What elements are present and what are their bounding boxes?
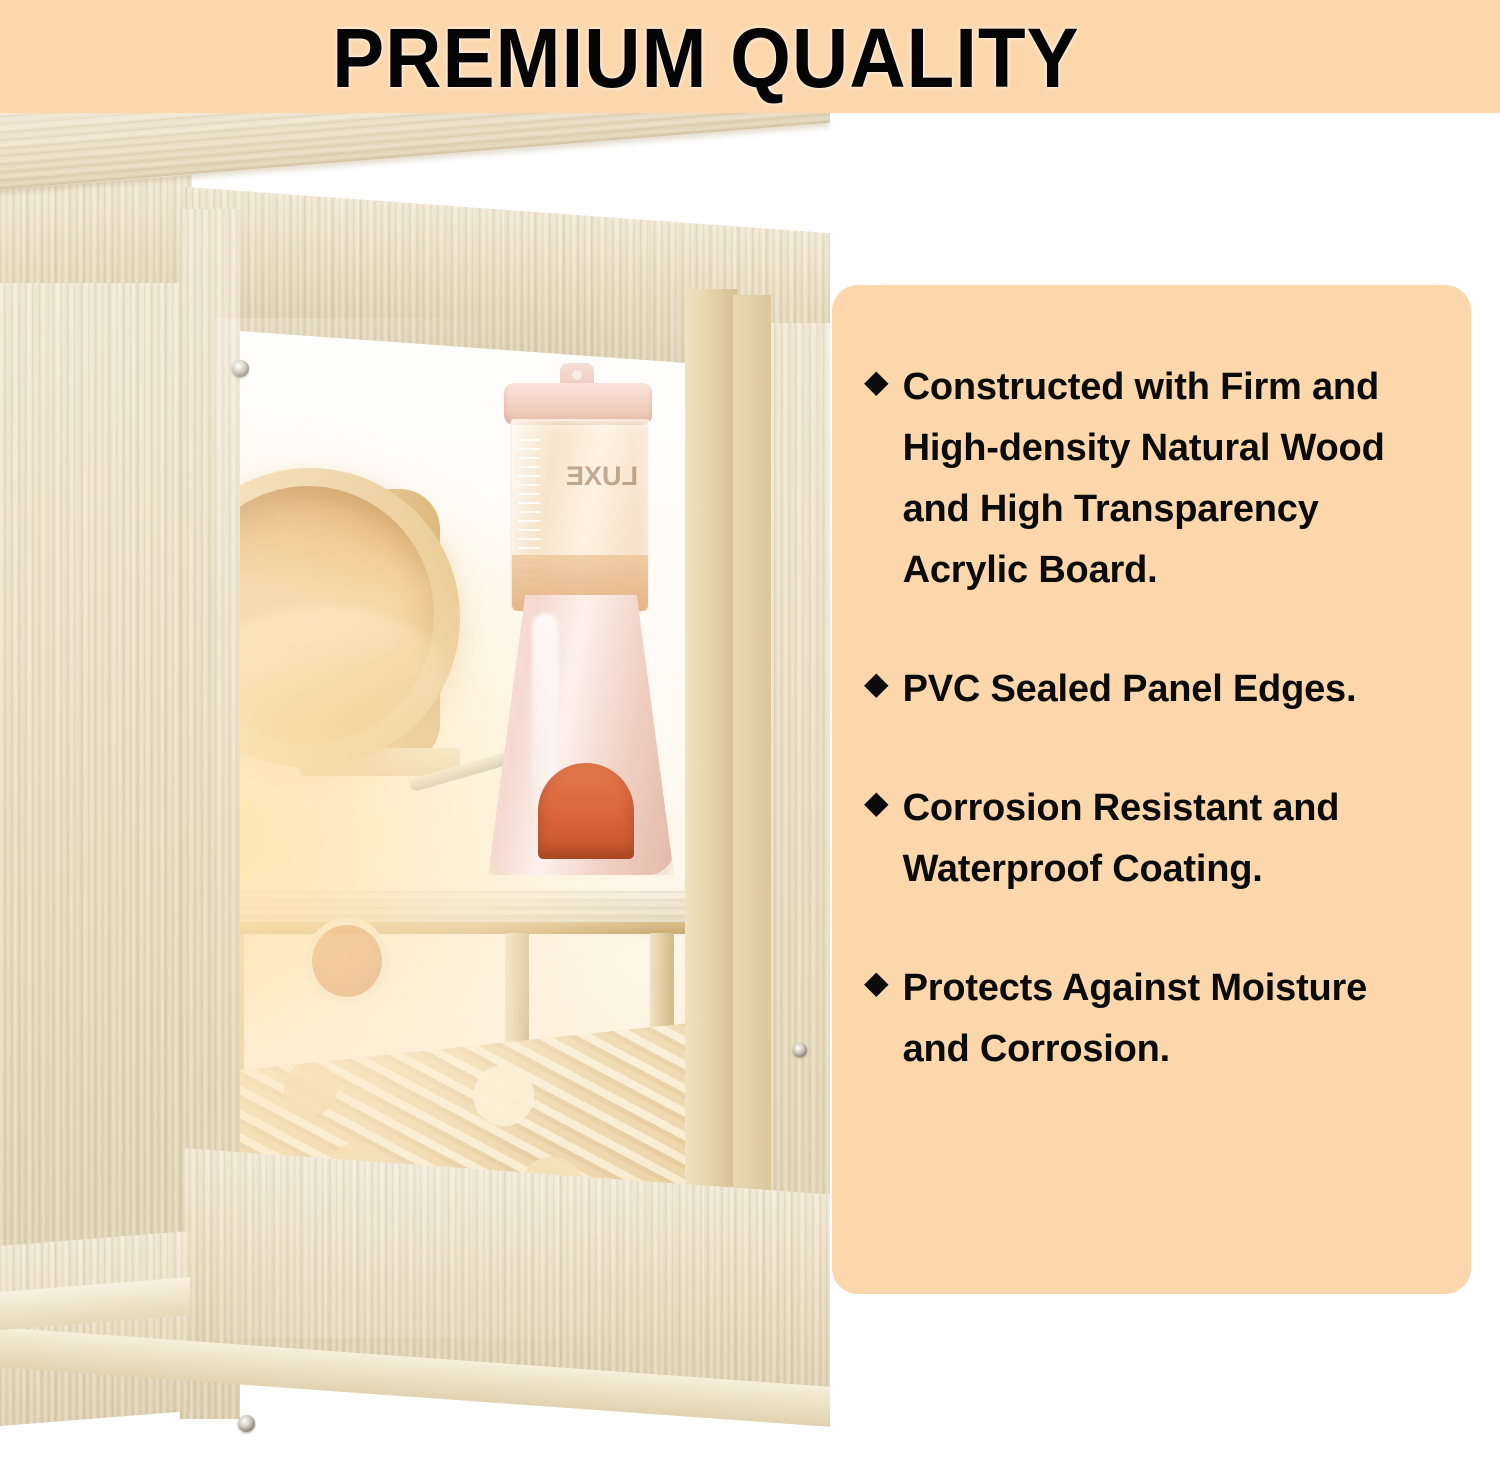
wheel-sheen: [212, 606, 442, 736]
feature-bullet-3-text: Corrosion Resistant and Waterproof Coati…: [903, 778, 1423, 900]
diamond-bullet-icon: ◆: [864, 779, 889, 826]
feature-bullet-4-text: Protects Against Moisture and Corrosion.: [903, 958, 1423, 1080]
feature-bullet-2: ◆ PVC Sealed Panel Edges.: [864, 659, 1437, 720]
header-banner: PREMIUM QUALITY: [0, 0, 1500, 113]
screw-icon: [793, 1043, 807, 1057]
features-panel: ◆ Constructed with Firm and High-density…: [832, 285, 1471, 1294]
wooden-hoop: [305, 918, 389, 1004]
cage-left-post: [0, 283, 182, 1383]
water-bottle-assembly: LUXE: [480, 363, 680, 883]
diamond-bullet-icon: ◆: [864, 959, 889, 1006]
feature-bullet-3: ◆ Corrosion Resistant and Waterproof Coa…: [864, 778, 1437, 900]
feature-bullet-list: ◆ Constructed with Firm and High-density…: [864, 357, 1437, 1080]
product-photo: LUXE: [0, 113, 830, 1473]
feature-bullet-1: ◆ Constructed with Firm and High-density…: [864, 357, 1437, 601]
diamond-bullet-icon: ◆: [864, 660, 889, 707]
screw-icon: [238, 1415, 255, 1432]
feature-bullet-1-text: Constructed with Firm and High-density N…: [903, 357, 1423, 601]
feature-bullet-4: ◆ Protects Against Moisture and Corrosio…: [864, 958, 1437, 1080]
bottle-body: LUXE: [510, 419, 650, 613]
page-title: PREMIUM QUALITY: [332, 16, 1079, 100]
diamond-bullet-icon: ◆: [864, 358, 889, 405]
feature-bullet-2-text: PVC Sealed Panel Edges.: [903, 659, 1357, 720]
hideout-entrance: [538, 763, 634, 859]
screw-icon: [232, 360, 249, 377]
bottle-brand-label: LUXE: [566, 461, 638, 492]
